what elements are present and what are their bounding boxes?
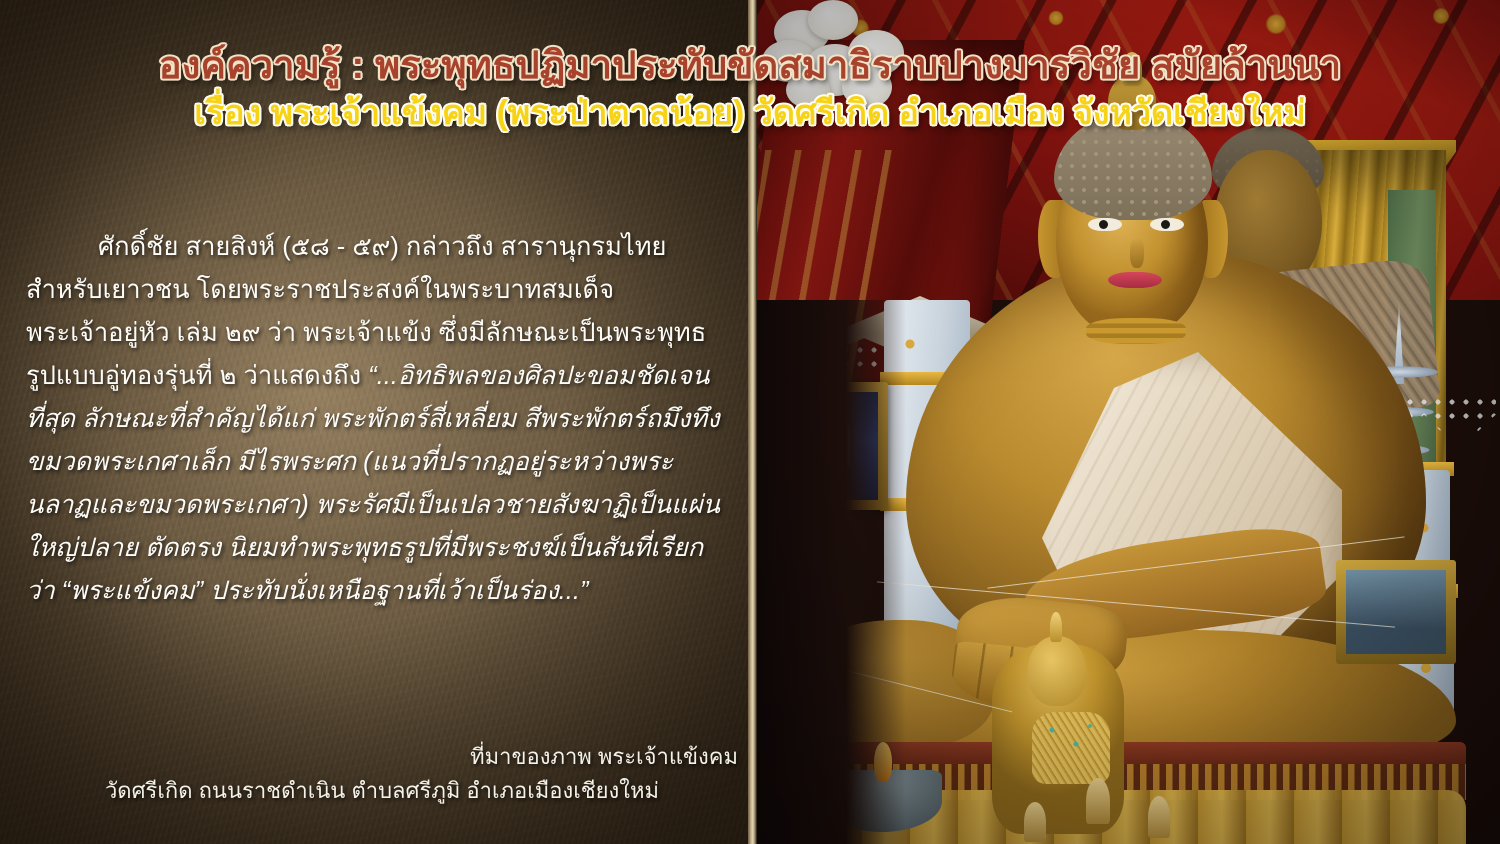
lotus-bud-offering-3 [1024, 802, 1046, 842]
buddha-pupil-right [1161, 220, 1170, 229]
lotus-bud-offering-1 [1086, 778, 1110, 824]
image-credit: ที่มาของภาพ พระเจ้าแข้งคม วัดศรีเกิด ถนน… [26, 740, 738, 808]
article-body: ศักดิ์ชัย สายสิงห์ (๕๘ - ๕๙) กล่าวถึง สา… [26, 226, 730, 613]
panel-photo-divider [748, 0, 757, 844]
buddha-neck-rings [1086, 318, 1186, 344]
buddha-pupil-left [1099, 220, 1108, 229]
small-gold-buddha-rasmi [1050, 612, 1062, 642]
body-paragraph: ศักดิ์ชัย สายสิงห์ (๕๘ - ๕๙) กล่าวถึง สา… [26, 226, 730, 613]
temple-buddha-photo [756, 0, 1500, 844]
buddha-nose [1130, 238, 1144, 268]
buddha-rasmi-flame [1122, 52, 1142, 86]
credit-line-1: ที่มาของภาพ พระเจ้าแข้งคม [26, 740, 738, 774]
lotus-bud-offering-2 [1148, 796, 1170, 838]
buddha-mouth [1108, 272, 1162, 288]
credit-line-2: วัดศรีเกิด ถนนราชดำเนิน ตำบลศรีภูมิ อำเภ… [26, 774, 738, 808]
body-quote-text: “...อิทธิพลของศิลปะขอมชัดเจนที่สุด ลักษณ… [26, 362, 720, 605]
small-gold-buddha-jewelled-robe [1032, 712, 1110, 784]
second-framed-picture-image [1346, 570, 1446, 654]
poster-canvas: องค์ความรู้ : พระพุทธปฏิมาประทับขัดสมาธิ… [0, 0, 1500, 844]
small-gold-buddha-head [1028, 636, 1086, 706]
photo-shadow-left [756, 300, 906, 844]
